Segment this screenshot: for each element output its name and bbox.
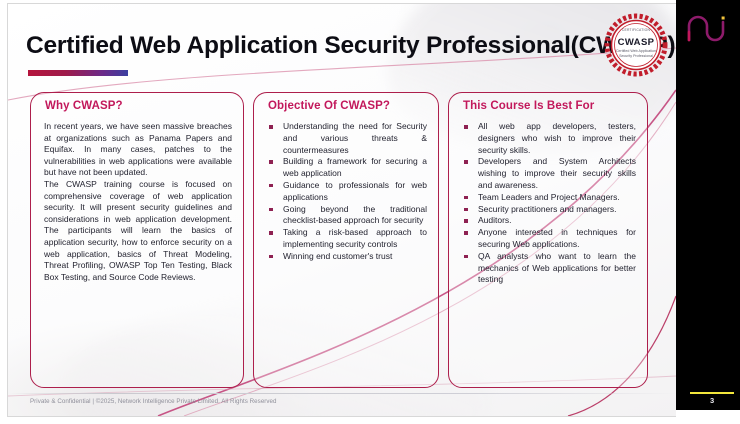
list-item-label: Understanding the need for Security and …	[283, 121, 427, 155]
title-underline-bar	[28, 70, 128, 76]
slide-screenshot: Certified Web Application Security Profe…	[0, 0, 740, 424]
bottom-spacer	[676, 410, 740, 424]
list-item-label: Security practitioners and managers.	[478, 204, 616, 214]
right-brand-panel: 3	[676, 0, 740, 410]
bullet-list: All web app developers, testers, designe…	[462, 121, 636, 286]
list-item-label: Team Leaders and Project Managers.	[478, 192, 620, 202]
list-item-label: Taking a risk-based approach to implemen…	[283, 227, 427, 249]
list-item: Building a framework for securing a web …	[267, 156, 427, 180]
bullet-square-icon	[269, 125, 273, 129]
list-item: Taking a risk-based approach to implemen…	[267, 227, 427, 251]
bullet-square-icon	[464, 219, 468, 223]
list-item-label: Guidance to professionals for web applic…	[283, 180, 427, 202]
bullet-square-icon	[464, 125, 468, 129]
panel-heading: Why CWASP?	[45, 100, 123, 112]
list-item-label: Developers and System Architects wishing…	[478, 156, 636, 190]
list-item: Winning end customer's trust	[267, 251, 427, 263]
list-item: Guidance to professionals for web applic…	[267, 180, 427, 204]
cwasp-seal: CERTIFICATION CWASP Certified Web Applic…	[603, 12, 669, 78]
ni-logo	[686, 12, 730, 46]
panel-body: All web app developers, testers, designe…	[462, 121, 636, 286]
bullet-square-icon	[269, 231, 273, 235]
paragraph: The CWASP training course is focused on …	[44, 179, 232, 283]
bullet-square-icon	[269, 160, 273, 164]
list-item: Going beyond the traditional checklist-b…	[267, 204, 427, 228]
bullet-square-icon	[269, 184, 273, 188]
panel-heading: This Course Is Best For	[463, 100, 594, 112]
panel-body: In recent years, we have seen massive br…	[44, 121, 232, 283]
panel-this-course-is-best-for: This Course Is Best For All web app deve…	[448, 92, 648, 388]
bullet-square-icon	[464, 208, 468, 212]
cwasp-seal-top-text: CERTIFICATION	[603, 28, 669, 32]
bullet-square-icon	[464, 231, 468, 235]
panel-heading: Objective Of CWASP?	[268, 100, 390, 112]
slide-canvas: Certified Web Application Security Profe…	[8, 4, 676, 416]
bullet-square-icon	[269, 255, 273, 259]
bullet-square-icon	[464, 160, 468, 164]
bullet-square-icon	[269, 208, 273, 212]
list-item: Anyone interested in techniques for secu…	[462, 227, 636, 251]
list-item: Team Leaders and Project Managers.	[462, 192, 636, 204]
bullet-square-icon	[464, 196, 468, 200]
panel-body: Understanding the need for Security and …	[267, 121, 427, 263]
list-item: All web app developers, testers, designe…	[462, 121, 636, 156]
footer-divider	[8, 393, 676, 394]
list-item-label: Anyone interested in techniques for secu…	[478, 227, 636, 249]
list-item-label: Winning end customer's trust	[283, 251, 392, 261]
cwasp-seal-sub-text: Certified Web Application Security Profe…	[609, 49, 663, 58]
list-item-label: QA analysts who want to learn the mechan…	[478, 251, 636, 285]
list-item-label: Going beyond the traditional checklist-b…	[283, 204, 427, 226]
list-item: Security practitioners and managers.	[462, 204, 636, 216]
bullet-list: Understanding the need for Security and …	[267, 121, 427, 263]
paragraph: In recent years, we have seen massive br…	[44, 121, 232, 179]
list-item-label: Auditors.	[478, 215, 512, 225]
panel-objective-of-cwasp: Objective Of CWASP? Understanding the ne…	[253, 92, 439, 388]
cwasp-seal-main-text: CWASP	[603, 37, 669, 48]
bullet-square-icon	[464, 255, 468, 259]
panel-why-cwasp: Why CWASP? In recent years, we have seen…	[30, 92, 244, 388]
footer-text: Private & Confidential | ©2025, Network …	[30, 398, 277, 405]
list-item: QA analysts who want to learn the mechan…	[462, 251, 636, 286]
list-item: Developers and System Architects wishing…	[462, 156, 636, 191]
list-item-label: Building a framework for securing a web …	[283, 156, 427, 178]
page-title: Certified Web Application Security Profe…	[26, 32, 675, 60]
page-number-underline	[690, 392, 734, 394]
list-item: Understanding the need for Security and …	[267, 121, 427, 156]
list-item-label: All web app developers, testers, designe…	[478, 121, 636, 155]
page-number: 3	[710, 396, 714, 405]
list-item: Auditors.	[462, 215, 636, 227]
